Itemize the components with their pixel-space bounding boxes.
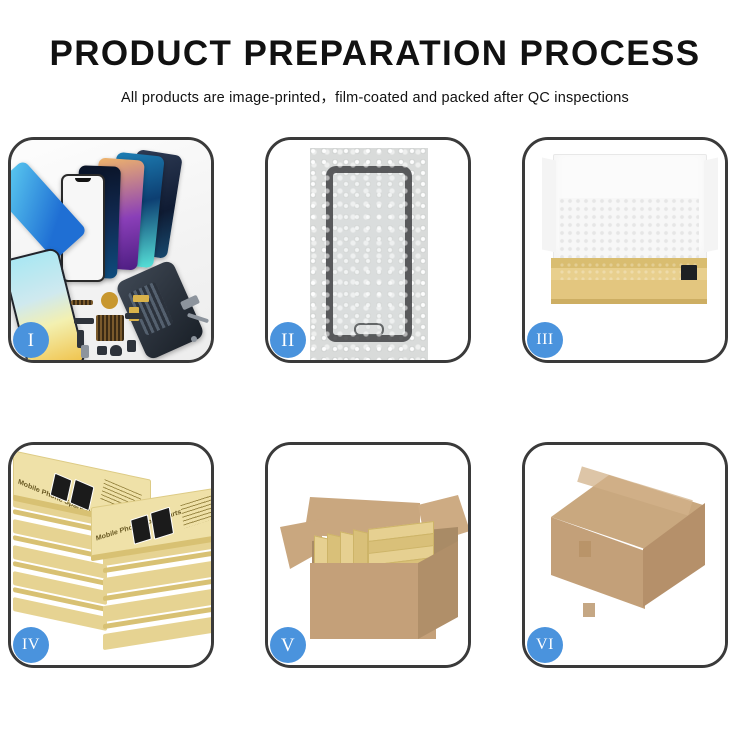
carton-hand-hole-1-icon <box>579 541 591 557</box>
box-spec-lines-b <box>180 494 211 528</box>
box-lcd-image-b1 <box>130 514 152 545</box>
foam-padding-icon <box>559 198 699 260</box>
step-badge-5-label: V <box>281 636 295 655</box>
small-part-6-icon <box>127 340 136 352</box>
step-badge-6: VI <box>527 627 563 663</box>
kraft-tray-side-icon <box>551 280 707 304</box>
small-part-7-icon <box>125 313 143 319</box>
process-step-panel-1: I <box>8 137 214 363</box>
step-badge-3: III <box>527 322 563 358</box>
small-part-1-icon <box>74 318 94 324</box>
small-part-4-icon <box>110 345 122 356</box>
small-part-5-icon <box>81 345 89 358</box>
step-badge-1: I <box>13 322 49 358</box>
page-subtitle: All products are image-printed，film-coat… <box>0 73 750 107</box>
screw-icon <box>191 336 197 342</box>
process-step-panel-6: VI <box>522 442 728 668</box>
step-badge-3-label: III <box>536 332 553 348</box>
carton-hand-hole-2-icon <box>583 603 595 617</box>
phone-notch-icon <box>75 178 91 182</box>
flex-cable-1-icon <box>133 295 149 302</box>
process-step-grid: I II <box>0 137 750 697</box>
mesh-part-icon <box>71 300 93 305</box>
product-preparation-infographic: PRODUCT PREPARATION PROCESS All products… <box>0 0 750 750</box>
step-badge-2-label: II <box>281 331 295 350</box>
speaker-part-icon <box>101 292 118 309</box>
process-step-panel-2: II <box>265 137 471 363</box>
bubble-wrap-overlay-icon <box>310 148 428 360</box>
header: PRODUCT PREPARATION PROCESS All products… <box>0 0 750 107</box>
process-step-panel-3: III <box>522 137 728 363</box>
step-badge-5: V <box>270 627 306 663</box>
step-badge-1-label: I <box>28 331 35 350</box>
box-lcd-image-b2 <box>150 507 174 540</box>
process-step-panel-4: Mobile Phone Spare Parts Mobile Phone Sp… <box>8 442 214 668</box>
step-badge-2: II <box>270 322 306 358</box>
connector-grid-icon <box>96 315 124 341</box>
process-step-panel-5: V <box>265 442 471 668</box>
step-badge-4-label: IV <box>22 637 40 653</box>
small-part-3-icon <box>97 346 107 355</box>
step-badge-6-label: VI <box>536 637 554 653</box>
page-title: PRODUCT PREPARATION PROCESS <box>0 0 750 73</box>
step-badge-4: IV <box>13 627 49 663</box>
carton-front-face-icon <box>310 563 436 639</box>
